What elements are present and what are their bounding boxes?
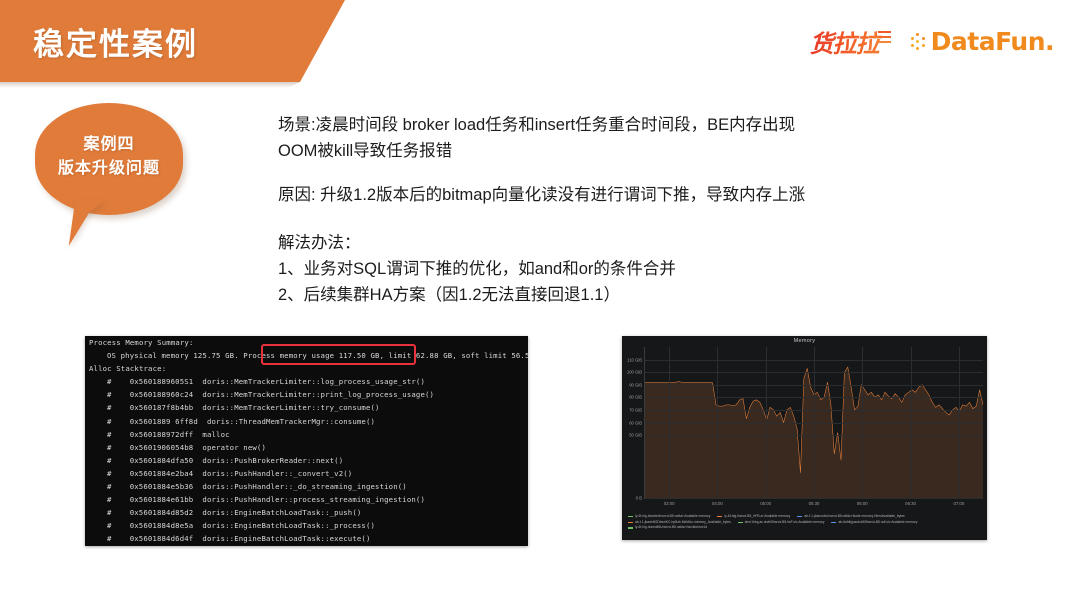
terminal-line: # 0x560187f8b4bb doris::MemTrackerLimite… bbox=[85, 401, 528, 414]
terminal-line: # 0x5601884d85d2 doris::EngineBatchLoadT… bbox=[85, 506, 528, 519]
page-title: 稳定性案例 bbox=[33, 19, 198, 64]
terminal-line: OS physical memory 125.75 GB. Process me… bbox=[85, 349, 528, 362]
chart-legend-label: sbnr1hbg.ac.drvbf3hsrvd-B5.hsF:clc Avail… bbox=[745, 520, 825, 526]
terminal-line: # 0x5601884dfa50 doris::PushBrokerReader… bbox=[85, 454, 528, 467]
case-callout-label: 案例四 版本升级问题 bbox=[35, 133, 183, 181]
chart-y-tick-label: 90 GiB bbox=[629, 382, 642, 387]
chart-legend-item[interactable]: ly-6f-hlg-rkzsnbf6Unsrvd-B5.nsfdzr:hsrvk… bbox=[628, 525, 707, 531]
chart-plot-area: 110 GiB100 GiB90 GiB80 GiB70 GiB60 GiB50… bbox=[644, 347, 983, 499]
chart-y-gridline bbox=[645, 498, 983, 499]
chart-legend-swatch bbox=[628, 527, 633, 528]
terminal-line: # 0x5601884d8e5a doris::EngineBatchLoadT… bbox=[85, 519, 528, 532]
case-callout-tail bbox=[69, 200, 105, 246]
terminal-line: # 0x5601884e61bb doris::PushHandler::pro… bbox=[85, 493, 528, 506]
chart-legend: ly-6f-hlg-bizzetrdhrsrvd-B5.nsfkzr:Avail… bbox=[628, 514, 983, 531]
chart-y-tick-label: 100 GiB bbox=[627, 370, 642, 375]
solution-heading: 解法办法： bbox=[278, 230, 1008, 256]
cause-line-1: 原因: 升级1.2版本后的bitmap向量化读没有进行谓词下推，导致内存上涨 bbox=[278, 182, 1008, 208]
chart-y-tick-label: 60 GiB bbox=[629, 420, 642, 425]
scenario-paragraph: 场景:凌晨时间段 broker load任务和insert任务重合时间段，BE内… bbox=[278, 112, 1008, 164]
datafun-dots-icon bbox=[911, 33, 928, 50]
datafun-logo: DataFun. bbox=[911, 27, 1054, 56]
chart-y-tick-label: 110 GiB bbox=[627, 357, 642, 362]
memory-chart-screenshot: Memory 110 GiB100 GiB90 GiB80 GiB70 GiB6… bbox=[622, 336, 987, 540]
cause-paragraph: 原因: 升级1.2版本后的bitmap向量化读没有进行谓词下推，导致内存上涨 bbox=[278, 182, 1008, 208]
chart-x-gridline bbox=[766, 347, 767, 498]
chart-x-tick-label: 04:00 bbox=[712, 501, 723, 506]
datafun-logo-text: DataFun. bbox=[931, 27, 1054, 56]
chart-y-tick-label: 80 GiB bbox=[629, 395, 642, 400]
chart-y-tick-label: 70 GiB bbox=[629, 407, 642, 412]
chart-x-tick-label: 05:00 bbox=[760, 501, 771, 506]
chart-legend-label: ab-6vfdbjpacdcb5Sbsrvd-B5.ndf.ulc Availa… bbox=[838, 520, 917, 526]
terminal-line: # 0x5601906054b8 operator new() bbox=[85, 441, 528, 454]
chart-x-gridline bbox=[717, 347, 718, 498]
chart-y-tick-label: 0 B bbox=[636, 496, 642, 501]
terminal-line: Process Memory Summary: bbox=[85, 336, 528, 349]
logo-row: 货拉拉 DataFun. bbox=[810, 24, 1054, 59]
chart-legend-row: ly-6f-hlg-rkzsnbf6Unsrvd-B5.nsfdzr:hsrvk… bbox=[628, 525, 983, 531]
chart-x-gridline bbox=[959, 347, 960, 498]
chart-legend-swatch bbox=[831, 522, 836, 523]
body-copy: 场景:凌晨时间段 broker load任务和insert任务重合时间段，BE内… bbox=[278, 112, 1008, 308]
chart-x-gridline bbox=[669, 347, 670, 498]
chart-x-gridline bbox=[814, 347, 815, 498]
chart-x-tick-label: 05:30 bbox=[809, 501, 820, 506]
chart-legend-swatch bbox=[738, 522, 743, 523]
chart-x-gridline bbox=[911, 347, 912, 498]
chart-legend-swatch bbox=[628, 522, 633, 523]
solution-item-1: 1、业务对SQL谓词下推的优化，如and和or的条件合并 bbox=[278, 256, 1008, 282]
terminal-line: # 0x5601884d6d4f doris::EngineBatchLoadT… bbox=[85, 532, 528, 545]
scenario-line-1: 场景:凌晨时间段 broker load任务和insert任务重合时间段，BE内… bbox=[278, 112, 1008, 138]
chart-legend-item[interactable]: sbnr1hbg.ac.drvbf3hsrvd-B5.hsF:clc Avail… bbox=[738, 520, 825, 526]
terminal-log-lines: Process Memory Summary:OS physical memor… bbox=[85, 336, 528, 546]
huolala-logo: 货拉拉 bbox=[810, 24, 889, 59]
chart-x-tick-label: 06:30 bbox=[905, 501, 916, 506]
terminal-line: # 0x5601889605S1 doris::MemTrackerLimite… bbox=[85, 375, 528, 388]
chart-legend-swatch bbox=[628, 516, 633, 517]
terminal-line: Alloc Stacktrace: bbox=[85, 362, 528, 375]
terminal-screenshot: Process Memory Summary:OS physical memor… bbox=[85, 336, 528, 546]
chart-x-tick-label: 03:00 bbox=[664, 501, 675, 506]
chart-x-tick-label: 07:00 bbox=[953, 501, 964, 506]
terminal-line: # 0x560188960c24 doris::MemTrackerLimite… bbox=[85, 388, 528, 401]
chart-y-tick-label: 50 GiB bbox=[629, 433, 642, 438]
terminal-line: # 0x560188972dff malloc bbox=[85, 428, 528, 441]
terminal-line: # 0x5601884e2ba4 doris::PushHandler::_co… bbox=[85, 467, 528, 480]
terminal-line: # 0x5601884e5b36 doris::PushHandler::_do… bbox=[85, 480, 528, 493]
scenario-line-2: OOM被kill导致任务报错 bbox=[278, 138, 1008, 164]
chart-x-gridline bbox=[862, 347, 863, 498]
solution-item-2: 2、后续集群HA方案（因1.2无法直接回退1.1） bbox=[278, 282, 1008, 308]
chart-title: Memory bbox=[622, 338, 987, 344]
case-callout-line1: 案例四 bbox=[35, 133, 183, 157]
solution-paragraph: 解法办法： 1、业务对SQL谓词下推的优化，如and和or的条件合并 2、后续集… bbox=[278, 230, 1008, 308]
chart-legend-swatch bbox=[797, 516, 802, 517]
header-banner-shadow bbox=[0, 82, 300, 88]
chart-legend-label: ly-6f-hlg-rkzsnbf6Unsrvd-B5.nsfdzr:hsrvk… bbox=[635, 525, 707, 531]
chart-legend-item[interactable]: ab-6vfdbjpacdcb5Sbsrvd-B5.ndf.ulc Availa… bbox=[831, 520, 917, 526]
case-callout-line2: 版本升级问题 bbox=[35, 157, 183, 181]
chart-x-tick-label: 06:00 bbox=[857, 501, 868, 506]
terminal-line: # 0x5601889 6ff8d doris::ThreadMemTracke… bbox=[85, 415, 528, 428]
chart-legend-swatch bbox=[717, 516, 722, 517]
